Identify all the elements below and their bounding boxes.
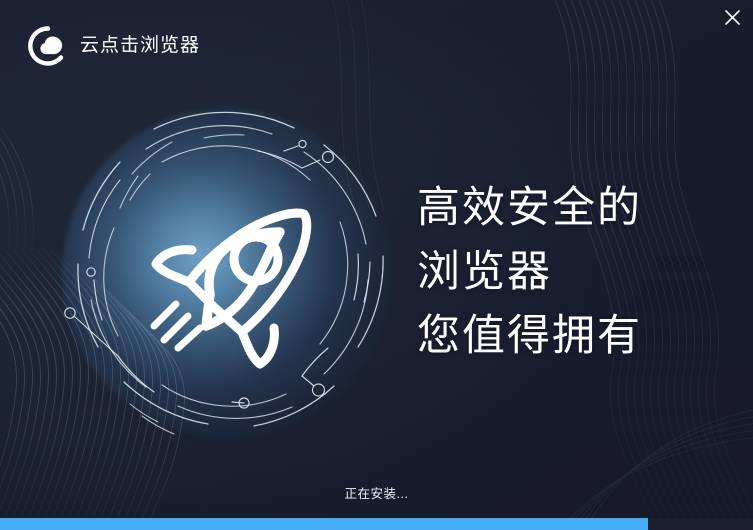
install-progress-bar	[0, 518, 753, 530]
install-progress-fill	[0, 518, 648, 530]
rocket-illustration	[58, 104, 398, 444]
hero-headline: 高效安全的 浏览器 您值得拥有	[417, 176, 642, 368]
headline-line-1: 高效安全的	[417, 176, 642, 240]
title-bar: 云点击浏览器	[0, 0, 753, 92]
headline-line-2: 浏览器	[417, 240, 642, 304]
close-button[interactable]	[715, 2, 749, 32]
install-status-text: 正在安装...	[0, 483, 753, 502]
close-icon	[724, 9, 741, 26]
headline-line-3: 您值得拥有	[417, 304, 642, 368]
app-title: 云点击浏览器	[80, 33, 200, 59]
installer-window: 云点击浏览器 高效安全的 浏览器 您值得拥有 正在安装...	[0, 0, 753, 530]
cloud-circle-logo-icon	[28, 26, 68, 66]
